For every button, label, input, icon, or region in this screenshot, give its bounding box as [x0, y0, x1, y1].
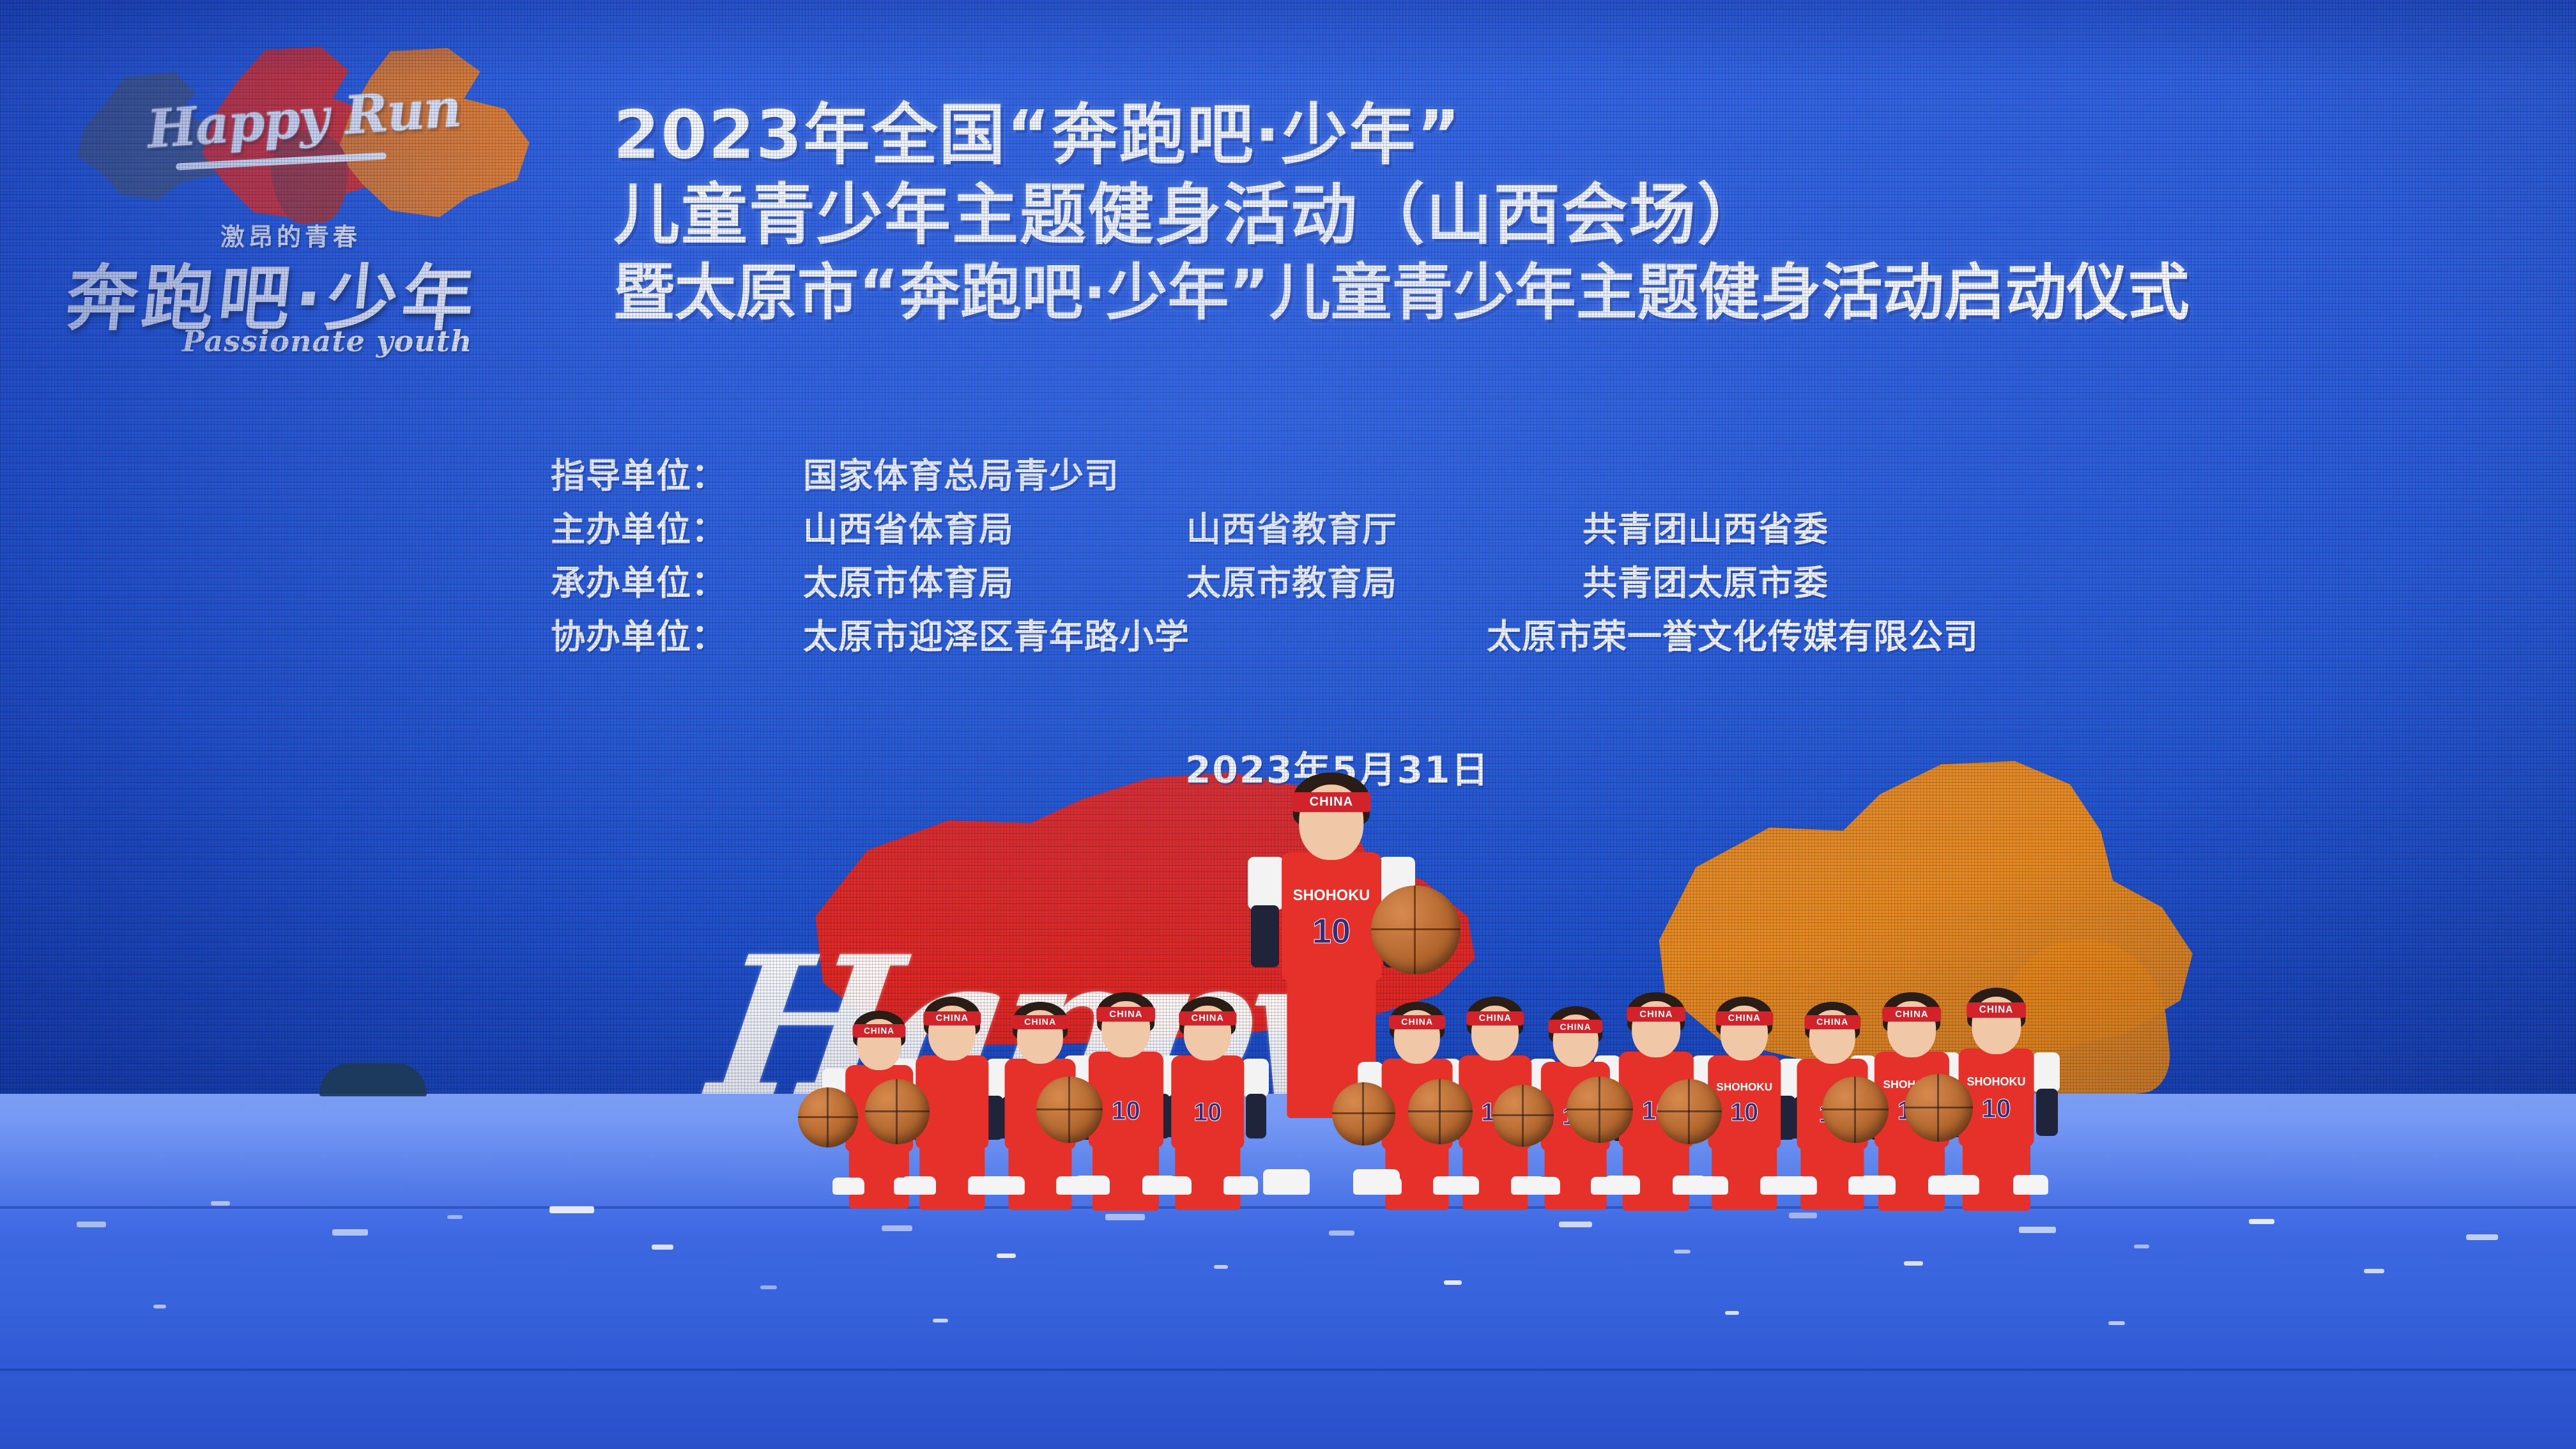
- basketball: [1371, 885, 1460, 974]
- organizer-name: 山西省教育厅: [1186, 501, 1583, 551]
- organizer-name: 太原市迎泽区青年路小学: [803, 608, 1487, 659]
- arm-sleeve-left: [1251, 905, 1280, 967]
- organizer-label: 承办单位：: [551, 555, 803, 605]
- arm-sleeve-right: [2036, 1089, 2058, 1136]
- shoe-left: [1263, 1169, 1310, 1195]
- confetti-piece: [1674, 1250, 1690, 1253]
- jersey-number: 10: [1193, 1098, 1222, 1127]
- organizer-name: 太原市体育局: [803, 555, 1186, 605]
- china-headband: CHINA: [1013, 1015, 1068, 1029]
- jersey-number: 10: [1112, 1096, 1140, 1126]
- shoe-left: [1944, 1175, 1980, 1195]
- shoe-left: [1528, 1177, 1560, 1195]
- basketball: [798, 1087, 858, 1147]
- shoe-left: [1605, 1176, 1640, 1195]
- child-performers-group: CHINA CHINA CHINA: [0, 735, 2576, 1195]
- organizer-name: 太原市荣一誉文化传媒有限公司: [1487, 608, 1979, 659]
- confetti-piece: [447, 1215, 463, 1219]
- organizer-name: 山西省体育局: [803, 501, 1186, 551]
- china-headband: CHINA: [1179, 1011, 1236, 1025]
- china-headband: CHINA: [1097, 1007, 1156, 1022]
- logo-tagline-en: Passionate youth: [182, 324, 472, 358]
- floor-seam: [0, 1368, 2576, 1371]
- confetti-piece: [1444, 1280, 1462, 1285]
- jersey-team-name: SHOHOKU: [1966, 1075, 2025, 1089]
- organizer-row: 主办单位：山西省体育局山西省教育厅共青团山西省委: [551, 501, 2212, 555]
- confetti-piece: [211, 1201, 230, 1206]
- event-title-line-1: 2023年全国“奔跑吧·少年”: [613, 96, 2543, 174]
- organizer-list: 指导单位：国家体育总局青少司主办单位：山西省体育局山西省教育厅共青团山西省委承办…: [551, 447, 2212, 662]
- organizer-name: 国家体育总局青少司: [803, 447, 1487, 498]
- china-headband: CHINA: [852, 1024, 905, 1038]
- organizer-label: 指导单位：: [551, 447, 803, 498]
- shoe-left: [902, 1176, 936, 1195]
- confetti-piece: [933, 1319, 948, 1322]
- shoe-left: [1860, 1176, 1896, 1195]
- organizer-name: 共青团山西省委: [1583, 501, 1828, 551]
- china-headband: CHINA: [1292, 792, 1371, 812]
- shoe-left: [1784, 1176, 1817, 1195]
- basketball: [865, 1079, 930, 1144]
- confetti-piece: [77, 1222, 106, 1227]
- basketball: [1822, 1077, 1889, 1143]
- confetti-piece: [1329, 1230, 1354, 1236]
- jersey-sleeve-right: [2032, 1052, 2060, 1092]
- shoe-left: [1075, 1176, 1110, 1195]
- floor-seam: [0, 1206, 2576, 1209]
- confetti-piece: [153, 1305, 166, 1308]
- organizer-name: 共青团太原市委: [1583, 555, 1828, 605]
- jersey-number: 10: [1981, 1094, 2011, 1124]
- basketball: [1657, 1079, 1722, 1144]
- organizer-name: 太原市教育局: [1186, 555, 1583, 605]
- confetti-piece: [760, 1285, 777, 1289]
- organizer-label: 主办单位：: [551, 501, 803, 551]
- confetti-piece: [2249, 1219, 2274, 1224]
- china-headband: CHINA: [1716, 1011, 1773, 1025]
- event-title-line-2: 儿童青少年主题健身活动（山西会场）: [613, 174, 2543, 256]
- china-headband: CHINA: [1390, 1015, 1445, 1029]
- confetti-piece: [882, 1225, 912, 1231]
- confetti-piece: [1789, 1213, 1817, 1218]
- basketball: [1567, 1077, 1633, 1143]
- confetti-piece: [652, 1245, 673, 1250]
- china-headband: CHINA: [1627, 1007, 1686, 1022]
- basketball: [1905, 1074, 1972, 1142]
- confetti-piece: [2108, 1321, 2125, 1325]
- shoe-left: [1445, 1176, 1479, 1195]
- shoe-left: [832, 1177, 864, 1195]
- event-title-block: 2023年全国“奔跑吧·少年” 儿童青少年主题健身活动（山西会场） 暨太原市“奔…: [613, 96, 2543, 330]
- jersey-sleeve-left: [1248, 857, 1284, 910]
- organizer-row: 承办单位：太原市体育局太原市教育局共青团太原市委: [551, 555, 2212, 608]
- jersey-team-name: SHOHOKU: [1716, 1080, 1772, 1094]
- organizer-row: 协办单位：太原市迎泽区青年路小学太原市荣一誉文化传媒有限公司: [551, 608, 2212, 662]
- basketball: [1332, 1082, 1395, 1146]
- china-headband: CHINA: [1805, 1015, 1860, 1029]
- china-headband: CHINA: [1966, 1002, 2027, 1017]
- confetti-piece: [2019, 1227, 2056, 1233]
- basketball: [1492, 1085, 1554, 1147]
- jersey-number: 10: [1312, 911, 1351, 951]
- confetti-piece: [1725, 1311, 1739, 1315]
- shoe-left: [1158, 1176, 1192, 1195]
- confetti-piece: [997, 1253, 1016, 1258]
- china-headband: CHINA: [1467, 1011, 1524, 1025]
- basketball: [1036, 1077, 1103, 1143]
- arm-sleeve-right: [1246, 1094, 1267, 1139]
- organizer-row: 指导单位：国家体育总局青少司: [551, 447, 2212, 501]
- shoe-left: [1368, 1176, 1402, 1195]
- shoe-right: [2013, 1175, 2049, 1195]
- shoe-right: [1223, 1176, 1257, 1195]
- shoe-left: [1694, 1176, 1728, 1195]
- confetti-piece: [332, 1229, 368, 1236]
- basketball: [1408, 1079, 1473, 1144]
- china-headband: CHINA: [924, 1011, 981, 1025]
- event-photo-scene: Happy Happy Run 激昂的青春 奔跑吧·少年 Passionate …: [0, 0, 2576, 1449]
- confetti-piece: [1105, 1214, 1145, 1220]
- event-logo: Happy Run 激昂的青春 奔跑吧·少年 Passionate youth: [61, 35, 546, 367]
- china-headband: CHINA: [1548, 1020, 1602, 1033]
- organizer-label: 协办单位：: [551, 608, 803, 659]
- child-performer: CHINA 10: [1150, 975, 1266, 1195]
- jersey-number: 10: [1730, 1098, 1758, 1127]
- confetti-piece: [549, 1206, 594, 1213]
- shoe-left: [992, 1176, 1025, 1195]
- confetti-piece: [2134, 1245, 2149, 1248]
- logo-runner-figures: Happy Run: [61, 35, 546, 227]
- china-headband: CHINA: [1883, 1007, 1942, 1022]
- confetti-piece: [2364, 1269, 2384, 1273]
- confetti-piece: [1559, 1222, 1592, 1227]
- jersey-sleeve-right: [1242, 1059, 1268, 1097]
- jersey-team-name: SHOHOKU: [1293, 887, 1370, 905]
- child-performer: CHINA SHOHOKU 10: [1936, 965, 2057, 1195]
- confetti-piece: [1904, 1261, 1923, 1266]
- confetti-piece: [1214, 1265, 1228, 1269]
- event-title-line-3: 暨太原市“奔跑吧·少年”儿童青少年主题健身活动启动仪式: [613, 256, 2543, 330]
- confetti-piece: [2466, 1234, 2498, 1240]
